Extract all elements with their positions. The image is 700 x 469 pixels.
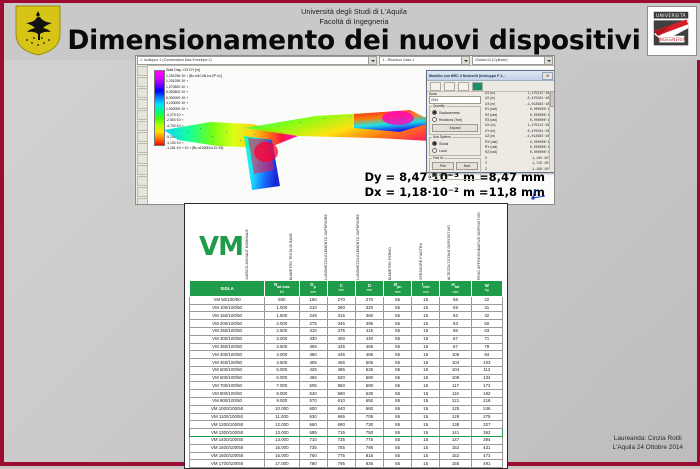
table-row[interactable]: VM 450/100/504.5004054655055515104103 [190, 359, 503, 367]
cell-value: 55 [384, 374, 412, 382]
cell-value: 15 [412, 366, 440, 374]
cell-value: 141 [440, 429, 471, 437]
toolbar-icon-rotate[interactable] [137, 99, 148, 109]
vertical-header-1: DIAMETRO TESTA DI BASE [289, 206, 297, 280]
vertical-header-3: LUNGHEZZA ELEMENTO SUPERIORE [356, 206, 364, 280]
fem-result-viewport[interactable]: Stati Disp. DX DY [m] 1,291296·10⁻² [Bc.… [148, 66, 554, 204]
cell-value: 15 [412, 312, 440, 320]
column-header-5: Øpnmm [384, 281, 412, 297]
cell-value: 415 [355, 328, 383, 336]
cell-sigla: VM 500/100/50 [190, 366, 265, 374]
table-row[interactable]: VM 700/100/507.0005055505905515117172 [190, 382, 503, 390]
cell-value: 440 [355, 335, 383, 343]
chevron-down-icon[interactable] [544, 57, 552, 64]
cell-value: 815 [355, 452, 383, 460]
cell-value: 735 [327, 436, 355, 444]
cell-sigla: VM 250/100/50 [190, 328, 265, 336]
cell-value: 275 [299, 320, 327, 328]
pencil-icon[interactable] [444, 82, 455, 91]
cell-value: 15 [412, 436, 440, 444]
cell-value: 11.000 [265, 413, 299, 421]
toolbar-icon-axis[interactable] [137, 165, 148, 175]
node-field[interactable]: 2044 [429, 96, 481, 104]
cell-value: 192 [471, 390, 502, 398]
cell-value: 55 [384, 328, 412, 336]
cell-value: 9.000 [265, 398, 299, 406]
table-row[interactable]: VM 1600/100/5016.0007607758155515152473 [190, 452, 503, 460]
cell-value: 610 [327, 398, 355, 406]
column-header-4: Dmm [355, 281, 383, 297]
cell-sigla: VM 600/100/50 [190, 374, 265, 382]
cell-value: 310 [299, 328, 327, 336]
table-row[interactable]: VM 300/100/503.00033040044055156771 [190, 335, 503, 343]
cell-value: 8.000 [265, 390, 299, 398]
cell-value: 22 [471, 296, 502, 304]
table-row[interactable]: VM 1300/100/5013.0006857157505515141362 [190, 429, 503, 437]
table-row[interactable]: VM 600/100/506.0004655205605515108134 [190, 374, 503, 382]
cell-value: 590 [355, 382, 383, 390]
cell-value: 15 [412, 343, 440, 351]
radio-global-label: Global [439, 142, 448, 146]
page-title: Dimensionamento dei nuovi dispositivi [4, 25, 700, 56]
cell-value: 330 [299, 335, 327, 343]
vertical-header-4: DIAMETRO PERNO [388, 206, 396, 280]
cell-value: 795 [327, 460, 355, 468]
vertical-header-label: PESO APPROSSIMATIVO DISPOSITIVO [477, 212, 485, 280]
table-row[interactable]: VM 1400/100/5014.0007107357755515147394 [190, 436, 503, 444]
cell-value: 15 [412, 460, 440, 468]
cell-sigla: VM 1300/100/50 [190, 429, 265, 437]
table-row[interactable]: VM 100/100/501.00021028032055156931 [190, 304, 503, 312]
table-header-row: SIGLANad maxkNDpmmCmmDmmØpnmmtminmmHtotm… [190, 281, 503, 297]
cell-value: 1.000 [265, 304, 299, 312]
cell-value: 129 [440, 413, 471, 421]
cell-value: 50 [471, 320, 502, 328]
export-icon[interactable] [472, 82, 483, 91]
cell-value: 63 [471, 328, 502, 336]
cell-value: 505 [299, 382, 327, 390]
column-header-2: Dpmm [299, 281, 327, 297]
expand-button[interactable]: Expand [432, 124, 478, 132]
cell-value: 71 [471, 335, 502, 343]
cell-value: 270 [355, 296, 383, 304]
cell-value: 755 [327, 444, 355, 452]
cell-value: 147 [440, 436, 471, 444]
cell-value: 465 [355, 343, 383, 351]
table-row[interactable]: VM 150/100/501.50024531536055156242 [190, 312, 503, 320]
column-header-6: tminmm [412, 281, 440, 297]
toolbar-icon-print[interactable] [137, 176, 148, 186]
cell-sigla: VM 800/100/50 [190, 390, 265, 398]
table-row[interactable]: VM 900/100/509.0005706106505515121218 [190, 398, 503, 406]
cell-value: 465 [299, 374, 327, 382]
table-row[interactable]: VM 500/100/505.0004254855255515104112 [190, 366, 503, 374]
cell-value: 394 [471, 436, 502, 444]
table-row[interactable]: VM 1200/100/5012.0006606907305515138327 [190, 421, 503, 429]
cell-value: 15 [412, 374, 440, 382]
cell-value: 505 [355, 359, 383, 367]
cell-value: 138 [440, 421, 471, 429]
cell-value: 55 [384, 320, 412, 328]
prev-button[interactable]: Prev [432, 162, 454, 170]
radio-dot-icon [432, 117, 437, 122]
cell-value: 5.000 [265, 366, 299, 374]
dialog-value-row: Z1,198·10⁺⁰¹ [485, 167, 553, 170]
radio-displacements[interactable]: Displacements [432, 110, 478, 115]
cell-value: 12.000 [265, 421, 299, 429]
cell-value: 360 [355, 312, 383, 320]
cell-value: 3.000 [265, 335, 299, 343]
vertical-header-label: ALTEZZA TOTALE DISPOSITIVO [447, 225, 455, 280]
cell-value: 780 [299, 460, 327, 468]
cell-value: 525 [355, 366, 383, 374]
cell-value: 16.000 [265, 452, 299, 460]
cell-value: 67 [440, 335, 471, 343]
cell-value: 405 [299, 359, 327, 367]
cell-sigla: VM 700/100/50 [190, 382, 265, 390]
cell-value: 13.000 [265, 429, 299, 437]
cell-value: 108 [440, 374, 471, 382]
radio-local[interactable]: Local [432, 148, 478, 153]
toolbar-icon-mesh[interactable] [137, 121, 148, 131]
cell-value: 320 [355, 304, 383, 312]
cell-value: 55 [384, 343, 412, 351]
vertical-header-label: CARICO ASSIALE NOMINALE [245, 229, 253, 280]
axis-system-group-label: Axis System [432, 135, 452, 139]
column-header-1: Nad maxkN [265, 281, 299, 297]
cell-value: 55 [384, 444, 412, 452]
radio-dot-icon [432, 148, 437, 153]
cell-value: 55 [384, 296, 412, 304]
column-header-0: SIGLA [190, 281, 265, 297]
cell-value: 540 [299, 390, 327, 398]
dialog-values-list: U1 (m)1,175212·10⁻²U2 (m)8,470181·10⁻³U3… [485, 91, 553, 170]
cell-value: 315 [327, 312, 355, 320]
cell-value: 105 [440, 351, 471, 359]
cell-value: 134 [471, 374, 502, 382]
cell-value: 395 [355, 320, 383, 328]
cell-value: 705 [355, 413, 383, 421]
cell-value: 345 [327, 320, 355, 328]
cell-value: 280 [327, 304, 355, 312]
checkbox-absolute[interactable]: Absolute [432, 172, 478, 177]
toolbar-icon-save[interactable] [137, 187, 148, 197]
cell-value: 94 [471, 351, 502, 359]
cell-value: 152 [440, 452, 471, 460]
cell-value: 15 [412, 351, 440, 359]
cell-value: 55 [384, 366, 412, 374]
cell-value: 431 [471, 444, 502, 452]
cell-value: 3.500 [265, 343, 299, 351]
fem-left-toolbar[interactable] [136, 65, 148, 204]
vertical-header-5: SPESSORE PIASTRA [419, 206, 427, 280]
vertical-header-7: PESO APPROSSIMATIVO DISPOSITIVO [477, 206, 485, 280]
cell-value: 116 [440, 390, 471, 398]
cell-value: 425 [299, 366, 327, 374]
cell-sigla: VM 200/100/50 [190, 320, 265, 328]
cell-value: 730 [355, 421, 383, 429]
table-row[interactable]: VM 1100/100/5011.0006306657055515129275 [190, 413, 503, 421]
cell-value: 55 [384, 382, 412, 390]
axis-system-group: Axis System Global Local [429, 137, 481, 156]
toolbar-icon-pan[interactable] [137, 88, 148, 98]
cell-value: 270 [327, 296, 355, 304]
vm-specification-table: SIGLANad maxkNDpmmCmmDmmØpnmmtminmmHtotm… [189, 280, 503, 469]
vertical-header-2: LUNGHEZZA ELEMENTO SUPERIORE [324, 206, 332, 280]
cell-value: 103 [471, 359, 502, 367]
reaction-case-combo-value: 1 - Reaction Case 1 [382, 58, 414, 62]
chevron-down-icon[interactable] [461, 57, 469, 64]
cell-value: 15 [412, 429, 440, 437]
vertical-header-row: CARICO ASSIALE NOMINALEDIAMETRO TESTA DI… [185, 206, 507, 280]
radio-local-label: Local [439, 149, 447, 153]
global-dof-combo[interactable]: Global UZ [Cylinder] [472, 56, 553, 65]
cell-sigla: VM 150/100/50 [190, 312, 265, 320]
dialog-value-key: Z [485, 167, 487, 170]
global-dof-combo-value: Global UZ [Cylinder] [475, 58, 507, 62]
toolbar-icon-zoom[interactable] [137, 77, 148, 87]
arrow-left-icon[interactable] [430, 82, 441, 91]
cell-value: 4.000 [265, 351, 299, 359]
radio-dot-icon [432, 141, 437, 146]
dialog-titlebar[interactable]: Modello con BRC 3 Nodes/3t (Inviluppo F … [427, 71, 554, 81]
author-line: Laureanda: Cinzia Rotili [612, 434, 683, 443]
cell-value: 15 [412, 328, 440, 336]
university-name: Università degli Studi di L'Aquila [4, 7, 700, 17]
table-head: SIGLANad maxkNDpmmCmmDmmØpnmmtminmmHtotm… [190, 281, 503, 297]
cell-sigla: VM 1500/100/50 [190, 444, 265, 452]
cell-value: 55 [384, 405, 412, 413]
vertical-header-0: CARICO ASSIALE NOMINALE [245, 206, 253, 280]
column-header-8: Wkg [471, 281, 502, 297]
load-case-combo-value: 1: Inviluppo 1 (Combination Max Envelope… [140, 58, 212, 62]
cell-value: 246 [471, 405, 502, 413]
cell-value: 14.000 [265, 436, 299, 444]
cell-value: 520 [327, 374, 355, 382]
cell-value: 491 [471, 460, 502, 468]
cell-value: 117 [440, 382, 471, 390]
table-row[interactable]: VM 400/100/504.000380445485551510594 [190, 351, 503, 359]
cell-value: 55 [384, 351, 412, 359]
radio-dot-icon [432, 110, 437, 115]
cell-value: 125 [440, 405, 471, 413]
table-row[interactable]: VM 1500/100/5015.0007357557955515152431 [190, 444, 503, 452]
cell-value: 750 [355, 429, 383, 437]
cell-value: 375 [327, 328, 355, 336]
next-button[interactable]: Next [456, 162, 478, 170]
cell-value: 172 [471, 382, 502, 390]
cell-value: 445 [327, 351, 355, 359]
cell-value: 31 [471, 304, 502, 312]
toolbar-icon-label[interactable] [137, 154, 148, 164]
vertical-header-label: SPESSORE PIASTRA [419, 243, 427, 280]
table-row[interactable]: VM 1700/100/5017.0007807958355515155491 [190, 460, 503, 468]
table-row[interactable]: VM 800/100/508.0005405906305515116192 [190, 390, 503, 398]
cell-sigla: VM 1600/100/50 [190, 452, 265, 460]
cell-value: 55 [384, 390, 412, 398]
checkbox-icon [432, 172, 437, 177]
cell-value: 590 [327, 390, 355, 398]
cell-value: 775 [327, 452, 355, 460]
dialog-scrollbar[interactable] [549, 91, 554, 170]
cell-value: 500 [265, 296, 299, 304]
cell-value: 680 [355, 405, 383, 413]
cell-value: 465 [327, 359, 355, 367]
cell-value: 55 [384, 436, 412, 444]
close-icon[interactable]: ✕ [542, 72, 553, 80]
cell-value: 685 [299, 429, 327, 437]
cell-value: 67 [440, 343, 471, 351]
checkbox-absolute-label: Absolute [439, 173, 451, 177]
cell-value: 218 [471, 398, 502, 406]
cell-value: 10.000 [265, 405, 299, 413]
load-case-combo[interactable]: 1: Inviluppo 1 (Combination Max Envelope… [137, 56, 377, 65]
dx-annotation: Dx = 1,18·10⁻² m =11,8 mm [364, 185, 545, 200]
cell-value: 15 [412, 421, 440, 429]
joint-displacement-dialog[interactable]: Modello con BRC 3 Nodes/3t (Inviluppo F … [426, 70, 554, 173]
cell-sigla: VM 1400/100/50 [190, 436, 265, 444]
radio-global[interactable]: Global [432, 141, 478, 146]
cell-value: 362 [471, 429, 502, 437]
footer-credits: Laureanda: Cinzia Rotili L'Aquila 24 Ott… [612, 434, 683, 452]
toolbar-icon-contour[interactable] [137, 110, 148, 120]
cell-sigla: VM 450/100/50 [190, 359, 265, 367]
cell-value: 63 [440, 320, 471, 328]
cell-value: 210 [299, 304, 327, 312]
axis-triad-icon [530, 187, 548, 201]
cell-sigla: VM 1700/100/50 [190, 460, 265, 468]
place-date-line: L'Aquila 24 Ottobre 2014 [612, 443, 683, 452]
vertical-header-6: ALTEZZA TOTALE DISPOSITIVO [447, 206, 455, 280]
cell-value: 760 [299, 452, 327, 460]
cell-value: 15 [412, 444, 440, 452]
cell-value: 15 [412, 398, 440, 406]
ingegneria-logo: UNIVERSITÀ INGEGNERIA [647, 6, 697, 56]
cell-value: 15 [412, 382, 440, 390]
cell-value: 4.500 [265, 359, 299, 367]
cell-value: 400 [327, 335, 355, 343]
chevron-down-icon[interactable] [368, 57, 376, 64]
fem-software-screenshot: 1: Inviluppo 1 (Combination Max Envelope… [135, 55, 555, 205]
table-row[interactable]: VM 350/100/503.50035542546555156779 [190, 343, 503, 351]
cell-value: 735 [299, 444, 327, 452]
cell-value: 570 [299, 398, 327, 406]
slide-canvas: Università degli Studi di L'Aquila Facol… [0, 0, 700, 466]
cell-value: 2.000 [265, 320, 299, 328]
cell-value: 425 [327, 343, 355, 351]
cell-value: 6.000 [265, 374, 299, 382]
cell-sigla: VM 100/100/50 [190, 304, 265, 312]
ingegneria-logo-text: INGEGNERIA [658, 37, 685, 42]
vertical-header-label: LUNGHEZZA ELEMENTO SUPERIORE [356, 214, 364, 280]
toolbar-icon-help[interactable] [137, 198, 148, 205]
cell-value: 55 [384, 413, 412, 421]
cell-value: 473 [471, 452, 502, 460]
vertical-header-label: LUNGHEZZA ELEMENTO SUPERIORE [324, 214, 332, 280]
cell-value: 835 [355, 460, 383, 468]
cell-value: 112 [471, 366, 502, 374]
cell-value: 795 [355, 444, 383, 452]
toolbar-icon-section[interactable] [137, 143, 148, 153]
vertical-header-label: DIAMETRO PERNO [388, 247, 396, 280]
cell-value: 160 [299, 296, 327, 304]
cell-value: 55 [384, 359, 412, 367]
quantity-group-label: Quantity [432, 104, 446, 108]
cell-sigla: VM 300/100/50 [190, 335, 265, 343]
cell-value: 485 [327, 366, 355, 374]
cell-value: 7.000 [265, 382, 299, 390]
cell-sigla: VM 400/100/50 [190, 351, 265, 359]
cell-value: 79 [471, 343, 502, 351]
cell-sigla: VM 1100/100/50 [190, 413, 265, 421]
radio-displacements-label: Displacements [439, 111, 460, 115]
cell-value: 630 [299, 413, 327, 421]
cell-value: 15 [412, 390, 440, 398]
cell-value: 15 [412, 405, 440, 413]
cell-value: 715 [327, 429, 355, 437]
reaction-case-combo[interactable]: 1 - Reaction Case 1 [379, 56, 470, 65]
cell-value: 660 [299, 421, 327, 429]
vm-damper-table-panel: VM CARICO ASSIALE NOMINALEDIAMETRO TESTA… [184, 203, 508, 469]
cell-value: 15 [412, 296, 440, 304]
cell-value: 104 [440, 359, 471, 367]
slide-header: Università degli Studi di L'Aquila Facol… [4, 3, 700, 60]
cell-value: 640 [327, 405, 355, 413]
cell-sigla: VM 1200/100/50 [190, 421, 265, 429]
dialog-title: Modello con BRC 3 Nodes/3t (Inviluppo F … [429, 74, 505, 78]
cell-value: 15 [412, 335, 440, 343]
cell-value: 275 [471, 413, 502, 421]
university-heading: Università degli Studi di L'Aquila Facol… [4, 7, 700, 26]
cell-value: 560 [355, 374, 383, 382]
find-group-label: Find Dr [432, 156, 444, 160]
quantity-group: Quantity Displacements Reactions (Text) … [429, 106, 481, 135]
table-row[interactable]: VM 50/100/5050016027027055156822 [190, 296, 503, 304]
cell-value: 600 [299, 405, 327, 413]
cell-value: 69 [440, 304, 471, 312]
cell-value: 15 [412, 413, 440, 421]
scrollbar-thumb[interactable] [550, 91, 554, 107]
cell-value: 665 [327, 413, 355, 421]
toolbar-icon-pointer[interactable] [137, 66, 148, 76]
cell-value: 2.500 [265, 328, 299, 336]
cell-value: 68 [440, 296, 471, 304]
cell-value: 1.500 [265, 312, 299, 320]
cell-value: 485 [355, 351, 383, 359]
toolbar-icon-deform[interactable] [137, 132, 148, 142]
cell-value: 66 [440, 328, 471, 336]
cell-value: 55 [384, 460, 412, 468]
table-row[interactable]: VM 250/100/502.50031037541555156663 [190, 328, 503, 336]
cell-value: 710 [299, 436, 327, 444]
table-icon[interactable] [458, 82, 469, 91]
cell-value: 550 [327, 382, 355, 390]
table-row[interactable]: VM 200/100/502.00027534539555156350 [190, 320, 503, 328]
cell-value: 630 [355, 390, 383, 398]
dialog-left-pane: Node 2044 Quantity Displacements Reactio… [429, 91, 481, 180]
cell-value: 15 [412, 452, 440, 460]
table-row[interactable]: VM 1000/100/5010.0006006406805515125246 [190, 405, 503, 413]
find-group: Find Dr Prev Next Absolute [429, 158, 481, 180]
radio-reactions[interactable]: Reactions (Text) [432, 117, 478, 122]
cell-value: 355 [299, 343, 327, 351]
radio-reactions-label: Reactions (Text) [439, 118, 462, 122]
cell-value: 17.000 [265, 460, 299, 468]
cell-value: 104 [440, 366, 471, 374]
cell-value: 15 [412, 304, 440, 312]
cell-value: 152 [440, 444, 471, 452]
cell-value: 55 [384, 452, 412, 460]
